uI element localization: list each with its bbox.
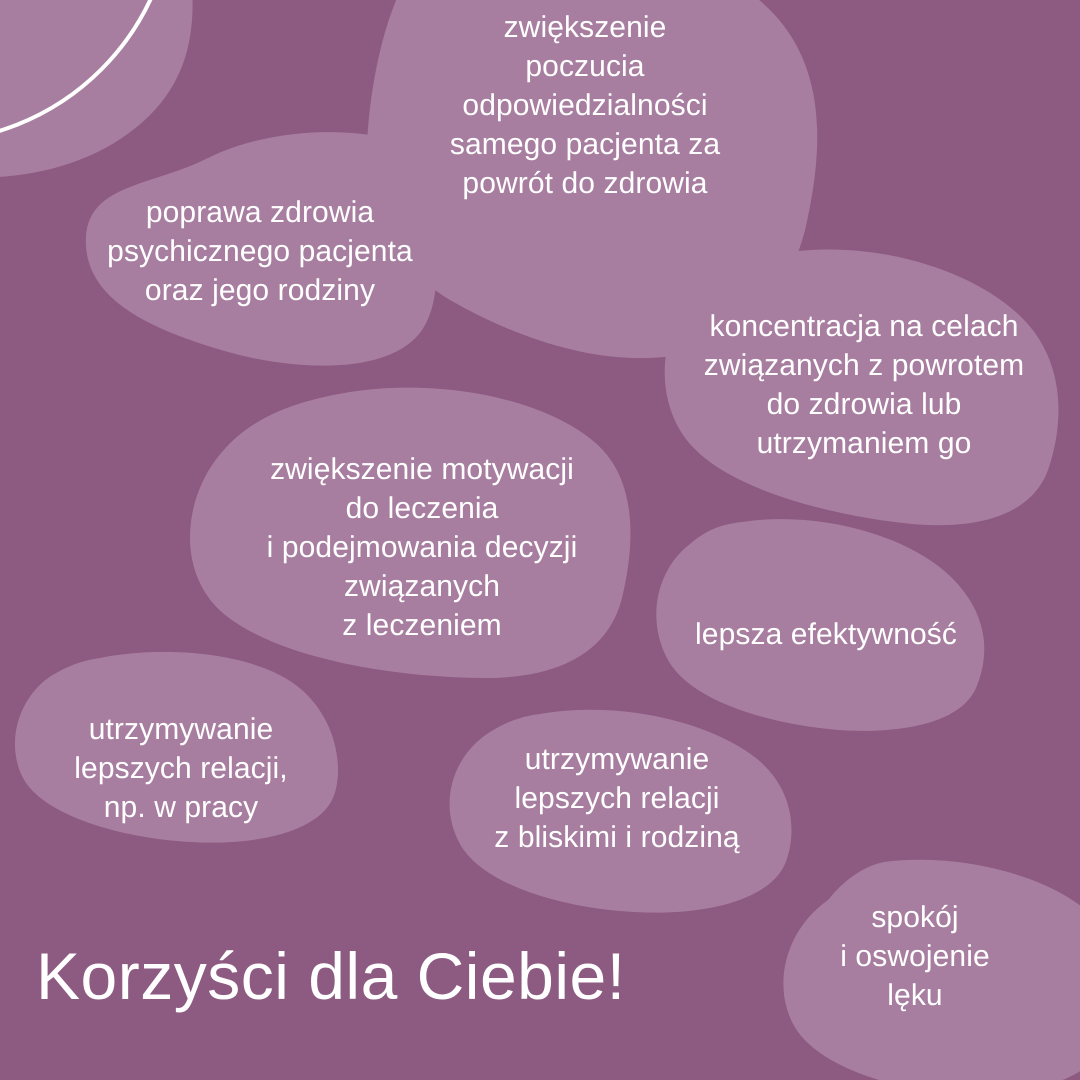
benefit-text-zdrowie-psychiczne: poprawa zdrowia psychicznego pacjenta or…: [74, 193, 446, 310]
benefit-text-koncentracja: koncentracja na celach związanych z powr…: [672, 307, 1056, 463]
top-left-corner-blob: [0, 0, 193, 178]
benefit-text-spokoj: spokój i oswojenie lęku: [800, 898, 1030, 1015]
page-title: Korzyści dla Ciebie!: [36, 940, 626, 1013]
white-circle-outline: [0, 0, 174, 142]
benefit-text-relacje-praca: utrzymywanie lepszych relacji, np. w pra…: [36, 710, 326, 827]
benefit-text-relacje-bliscy: utrzymywanie lepszych relacji z bliskimi…: [452, 740, 782, 857]
poster-canvas: zwiększenie poczucia odpowiedzialności s…: [0, 0, 1080, 1080]
benefit-text-odpowiedzialnosc: zwiększenie poczucia odpowiedzialności s…: [392, 8, 778, 203]
benefit-text-motywacja: zwiększenie motywacji do leczenia i pode…: [232, 450, 612, 645]
benefit-text-efektywnosc: lepsza efektywność: [666, 615, 986, 654]
